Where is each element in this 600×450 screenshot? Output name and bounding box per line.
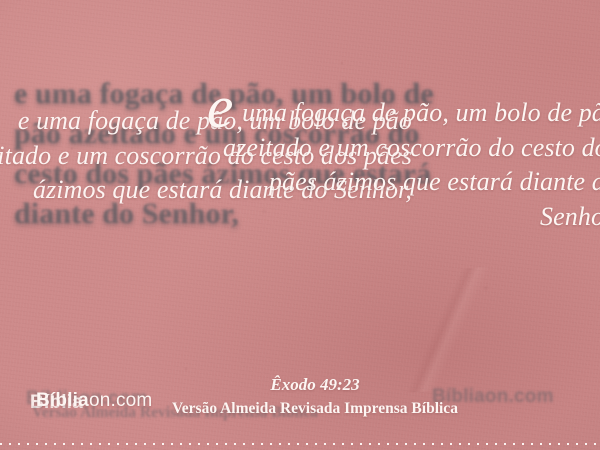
verse-reference: Êxodo 49:23 [160, 375, 470, 395]
verse-image-card: e uma fogaça de pão, um bolo de pão azei… [0, 0, 600, 450]
bottom-dashed-divider [0, 443, 600, 445]
version-label: Versão Almeida Revisada Imprensa Bíblica [140, 400, 490, 418]
verse-dropcap: e [207, 74, 236, 140]
verse-text: e uma fogaça de pão, um bolo de pão azei… [198, 96, 600, 234]
verse-body: uma fogaça de pão, um bolo de pão azeita… [223, 98, 600, 231]
